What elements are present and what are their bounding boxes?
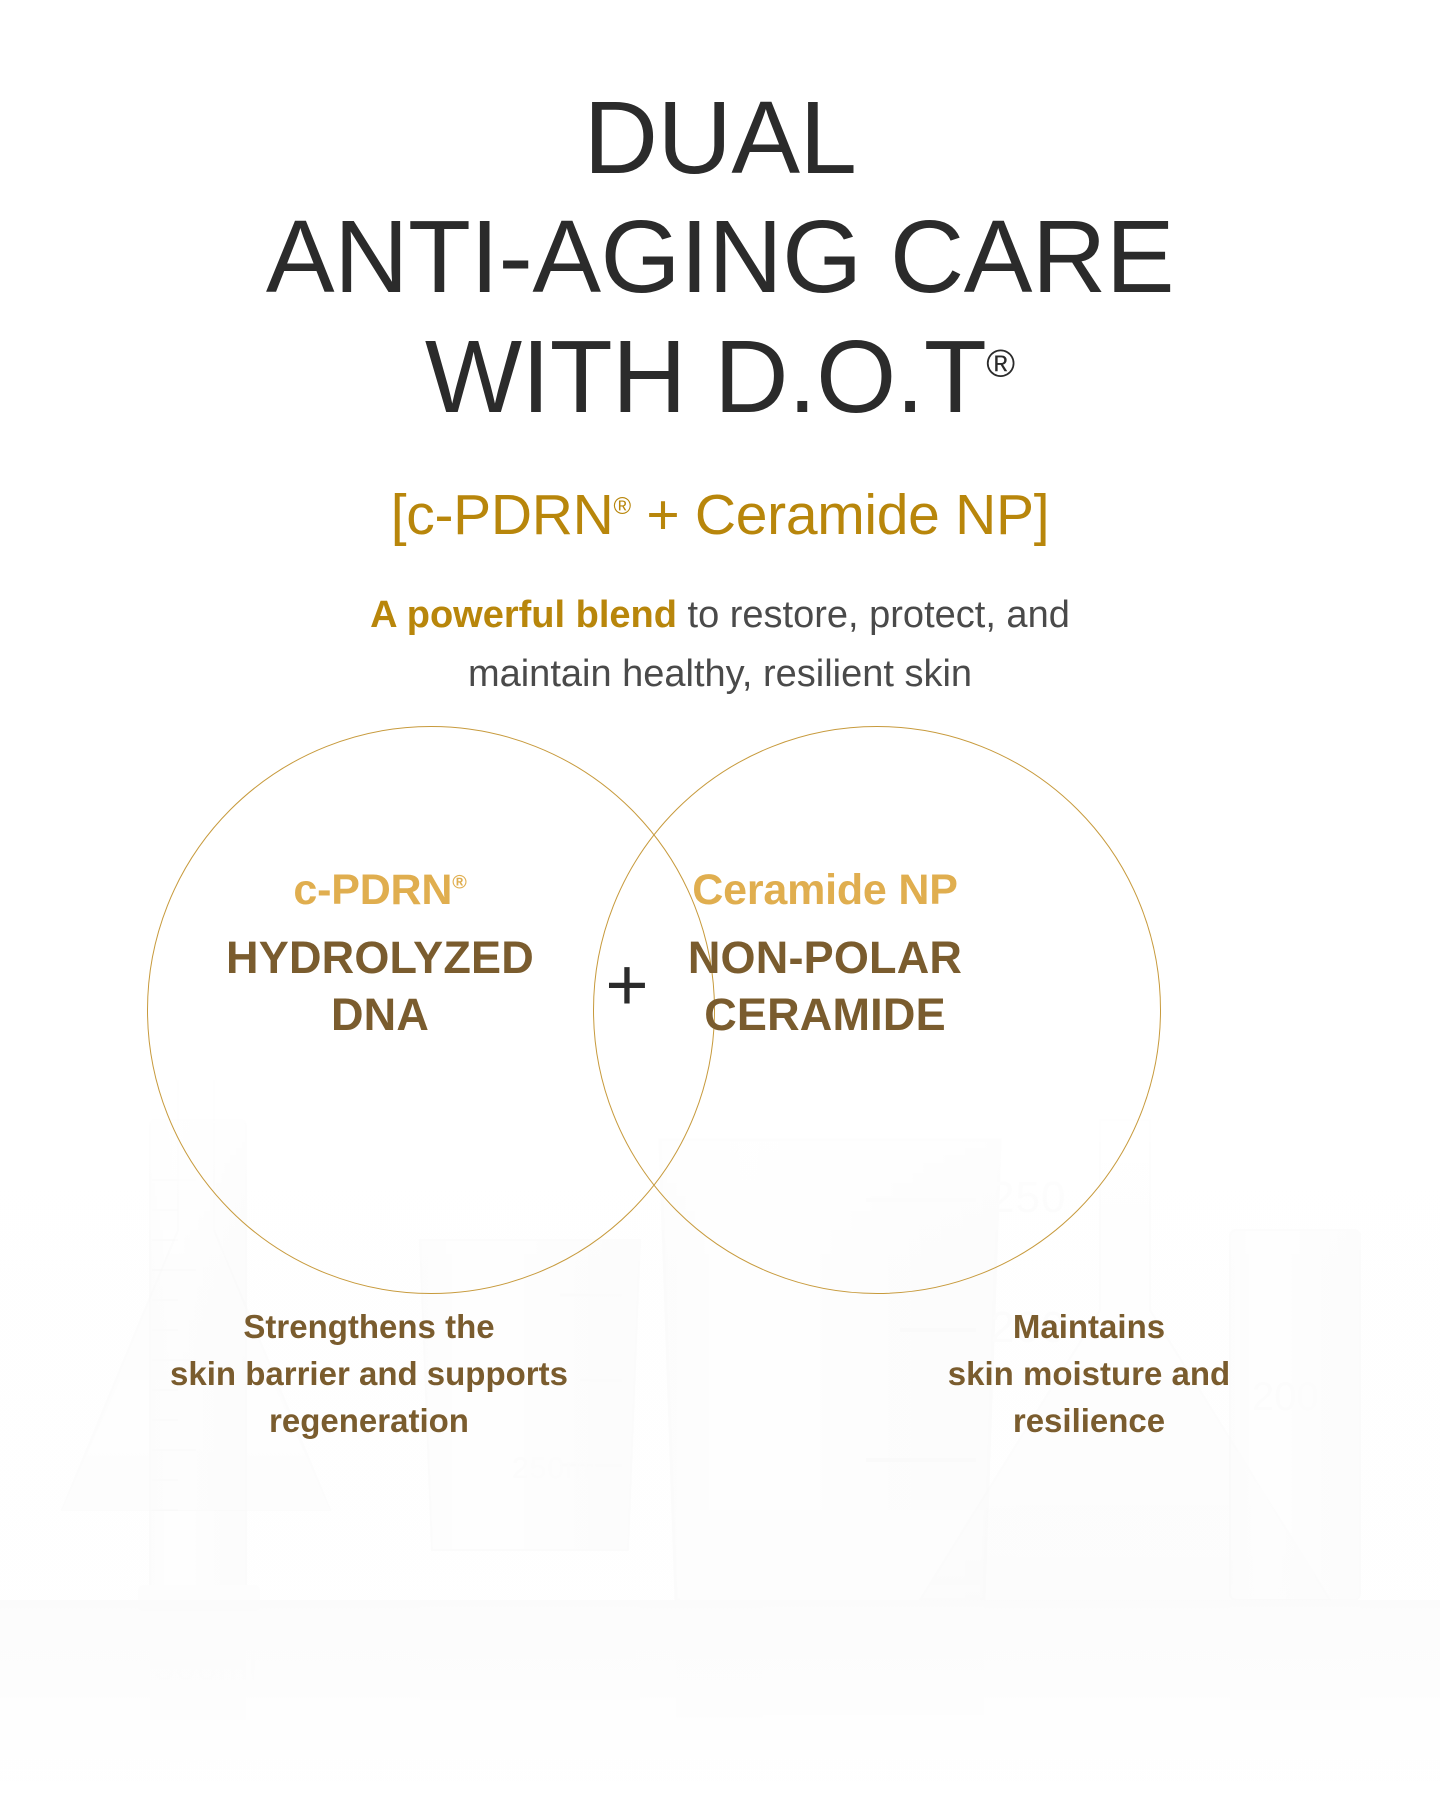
venn-right-subtitle: Ceramide NP	[625, 864, 1025, 916]
blurb-line-1-rest: to restore, protect, and	[677, 594, 1070, 636]
promo-content: DUAL ANTI-AGING CARE WITH D.O.T® [c-PDRN…	[0, 0, 1440, 1800]
venn-left-title-line-2: DNA	[180, 986, 580, 1044]
caption-right-line-1: Maintains	[738, 1304, 1440, 1351]
venn-right-subtitle-text: Ceramide NP	[692, 866, 957, 914]
venn-content-left: c-PDRN® HYDROLYZED DNA	[180, 864, 580, 1044]
headline-line-2: ANTI-AGING CARE	[0, 197, 1440, 316]
caption-left-line-3: regeneration	[18, 1398, 720, 1445]
caption-right-line-2: skin moisture and	[738, 1351, 1440, 1398]
venn-right-title: NON-POLAR CERAMIDE	[625, 929, 1025, 1044]
ingredient-name-2: Ceramide NP	[695, 483, 1034, 547]
headline-line-1: DUAL	[0, 78, 1440, 197]
blurb: A powerful blend to restore, protect, an…	[0, 586, 1440, 704]
blurb-line-1: A powerful blend to restore, protect, an…	[0, 586, 1440, 645]
ingredient-name-1: c-PDRN	[406, 483, 613, 547]
venn-right-title-line-2: CERAMIDE	[625, 986, 1025, 1044]
benefit-captions: Strengthens the skin barrier and support…	[0, 1304, 1440, 1445]
caption-left-line-1: Strengthens the	[18, 1304, 720, 1351]
venn-left-subtitle-text: c-PDRN	[293, 866, 452, 914]
caption-left: Strengthens the skin barrier and support…	[0, 1304, 720, 1445]
caption-right: Maintains skin moisture and resilience	[720, 1304, 1440, 1445]
registered-mark-icon: ®	[613, 493, 630, 520]
headline-line-3: WITH D.O.T®	[0, 317, 1440, 436]
venn-diagram: + c-PDRN® HYDROLYZED DNA Ceramide NP NON…	[0, 726, 1440, 1376]
ingredient-subtitle: [c-PDRN® + Ceramide NP]	[0, 482, 1440, 548]
venn-left-title-line-1: HYDROLYZED	[180, 929, 580, 987]
headline-line-3-text: WITH D.O.T	[425, 319, 986, 434]
venn-left-subtitle: c-PDRN®	[180, 864, 580, 916]
open-bracket: [	[391, 483, 407, 547]
registered-mark-icon: ®	[986, 343, 1015, 386]
blurb-accent: A powerful blend	[370, 594, 677, 636]
page-title: DUAL ANTI-AGING CARE WITH D.O.T®	[0, 0, 1440, 436]
caption-left-line-2: skin barrier and supports	[18, 1351, 720, 1398]
plus-joiner: +	[631, 483, 695, 547]
venn-left-title: HYDROLYZED DNA	[180, 929, 580, 1044]
blurb-line-2: maintain healthy, resilient skin	[0, 645, 1440, 704]
caption-right-line-3: resilience	[738, 1398, 1440, 1445]
close-bracket: ]	[1034, 483, 1050, 547]
registered-mark-icon: ®	[452, 872, 466, 894]
venn-content-right: Ceramide NP NON-POLAR CERAMIDE	[625, 864, 1025, 1044]
venn-right-title-line-1: NON-POLAR	[625, 929, 1025, 987]
